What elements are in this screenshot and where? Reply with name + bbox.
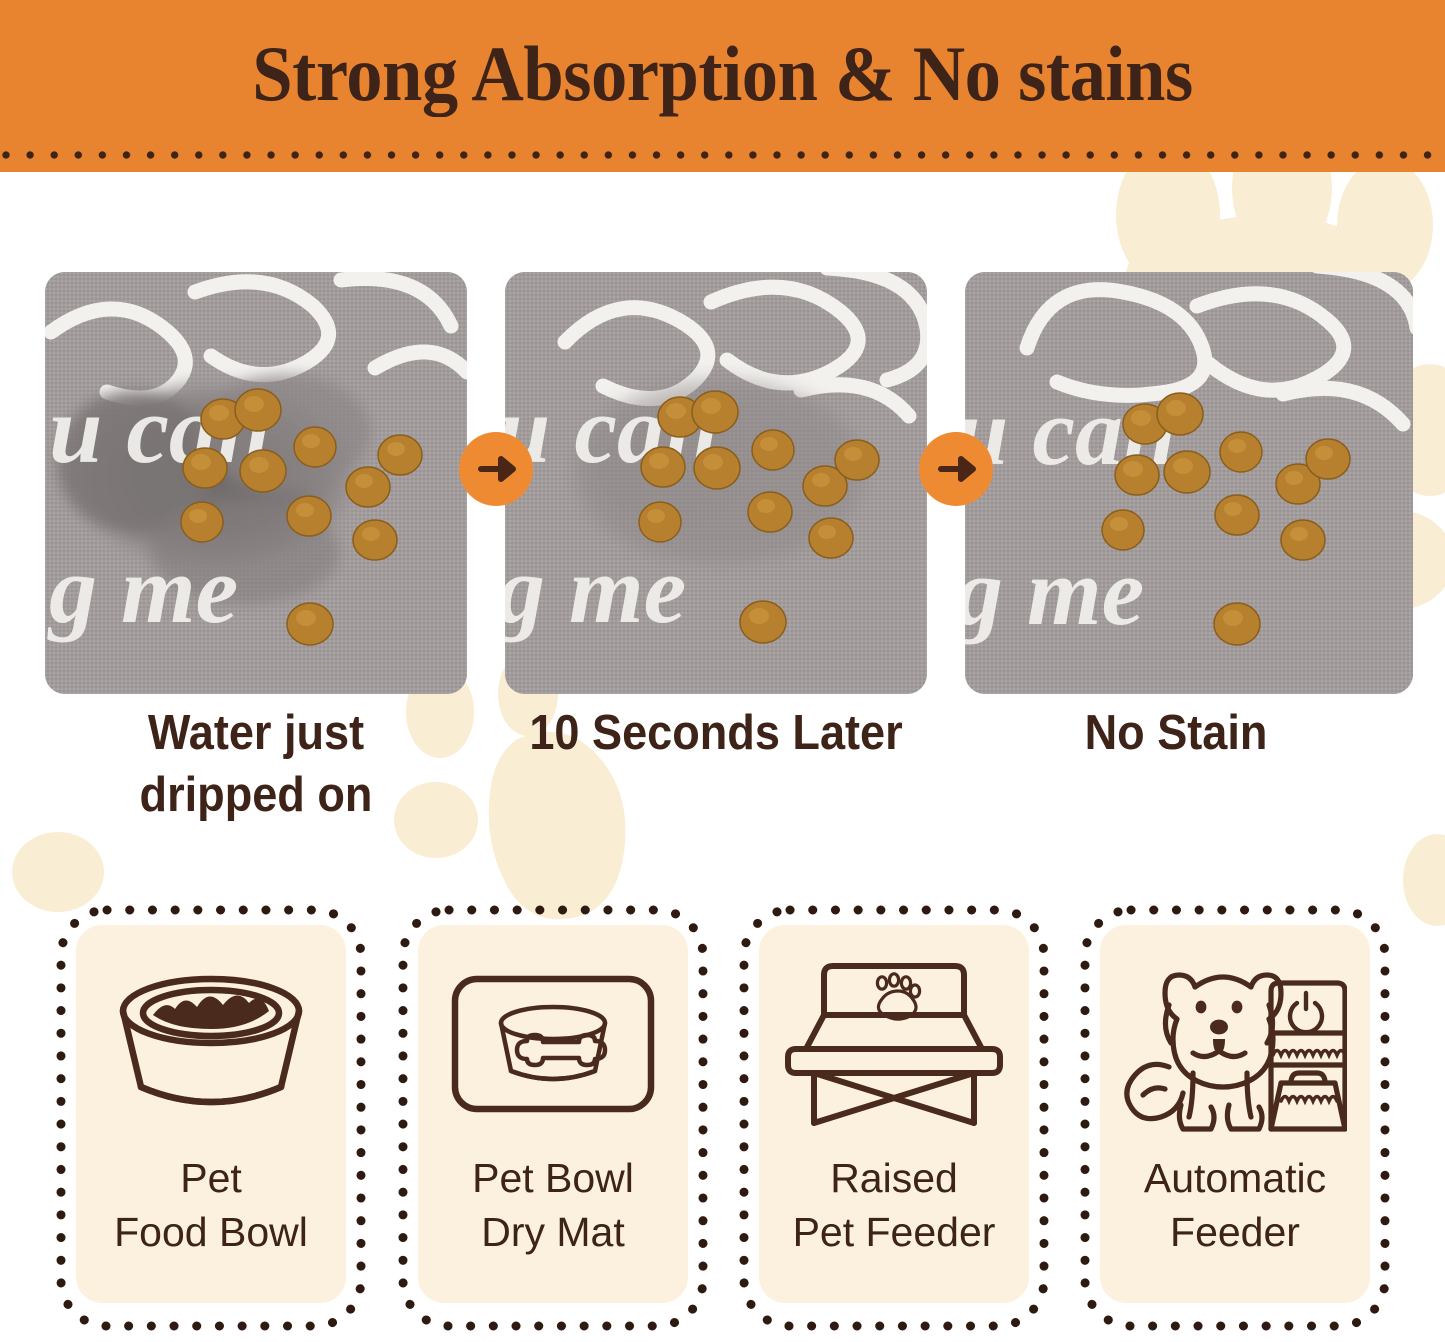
pet-bowl-dry-mat-icon [441,955,665,1133]
svg-text:g me: g me [505,536,686,643]
card-pet-bowl-dry-mat[interactable]: Pet Bowl Dry Mat [396,903,710,1333]
caption-ten-seconds-later: 10 Seconds Later [522,702,910,764]
card-label: Raised Pet Feeder [759,1151,1029,1259]
raised-pet-feeder-icon [782,955,1006,1133]
demo-photo-water-just-dripped-on: u can g me [45,272,467,694]
card-panel: Automatic Feeder [1100,925,1370,1303]
arrow-right-icon [459,432,533,506]
svg-text:g me: g me [965,538,1144,645]
caption-no-stain: No Stain [982,702,1370,764]
card-label: Automatic Feeder [1100,1151,1370,1259]
arrow-right-icon [919,432,993,506]
card-panel: Pet Bowl Dry Mat [418,925,688,1303]
card-pet-food-bowl[interactable]: Pet Food Bowl [54,903,368,1333]
demo-captions: Water just dripped on 10 Seconds Later N… [0,702,1445,832]
pet-food-bowl-icon [99,955,323,1133]
demo-photo-no-stain: u can g me [965,272,1413,694]
svg-text:g me: g me [47,536,238,643]
header-dotted-divider [0,149,1445,161]
absorption-demo-row: u can g me [0,272,1445,694]
caption-water-just-dripped-on: Water just dripped on [62,702,450,826]
page-title: Strong Absorption & No stains [51,26,1395,122]
card-raised-pet-feeder[interactable]: Raised Pet Feeder [737,903,1051,1333]
card-panel: Raised Pet Feeder [759,925,1029,1303]
compatible-products-row: Pet Food Bowl Pet Bowl Dry Mat [0,900,1445,1336]
card-label: Pet Bowl Dry Mat [418,1151,688,1259]
card-automatic-feeder[interactable]: Automatic Feeder [1078,903,1392,1333]
demo-photo-ten-seconds-later: u can g me [505,272,927,694]
card-panel: Pet Food Bowl [76,925,346,1303]
header-banner: Strong Absorption & No stains [0,0,1445,172]
automatic-feeder-icon [1123,955,1347,1133]
card-label: Pet Food Bowl [76,1151,346,1259]
